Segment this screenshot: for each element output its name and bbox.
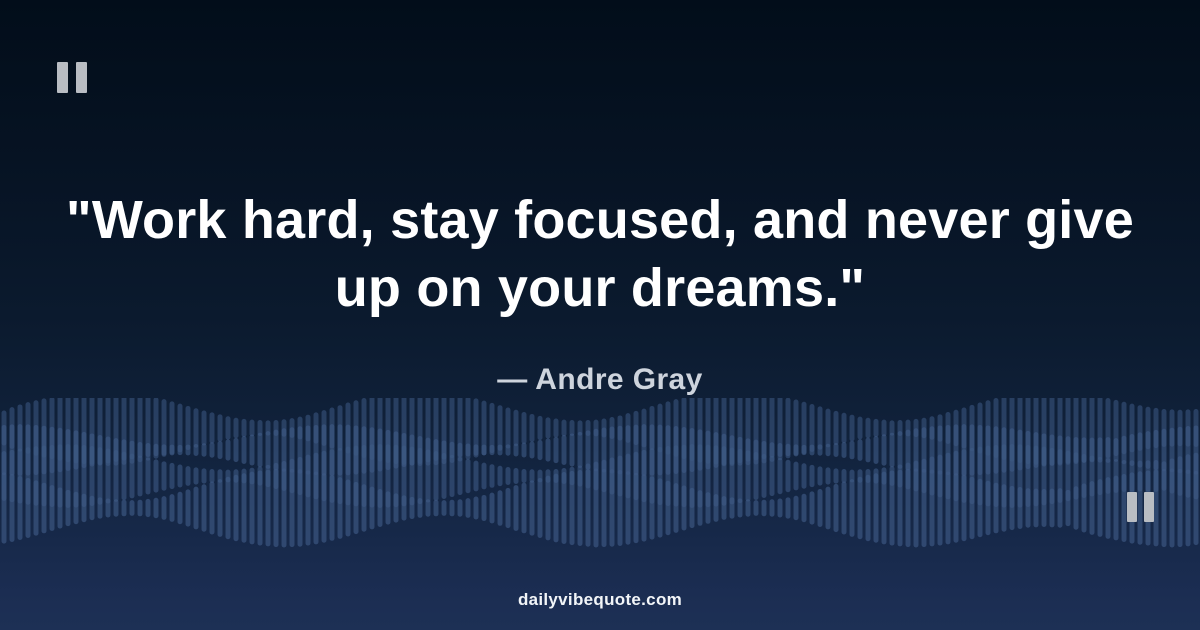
site-watermark: dailyvibequote.com <box>300 590 900 610</box>
quote-bar-right <box>1144 492 1154 522</box>
quote-mark-icon-bottom <box>1127 492 1154 522</box>
audio-waveform <box>0 398 1200 550</box>
quote-bar-left <box>1127 492 1137 522</box>
quote-text: "Work hard, stay focused, and never give… <box>30 186 1170 322</box>
quote-bar-left <box>57 62 68 93</box>
quote-mark-icon-top <box>57 62 87 93</box>
quote-card: "Work hard, stay focused, and never give… <box>0 0 1200 630</box>
author-attribution: — Andre Gray <box>100 363 1100 397</box>
quote-bar-right <box>76 62 87 93</box>
